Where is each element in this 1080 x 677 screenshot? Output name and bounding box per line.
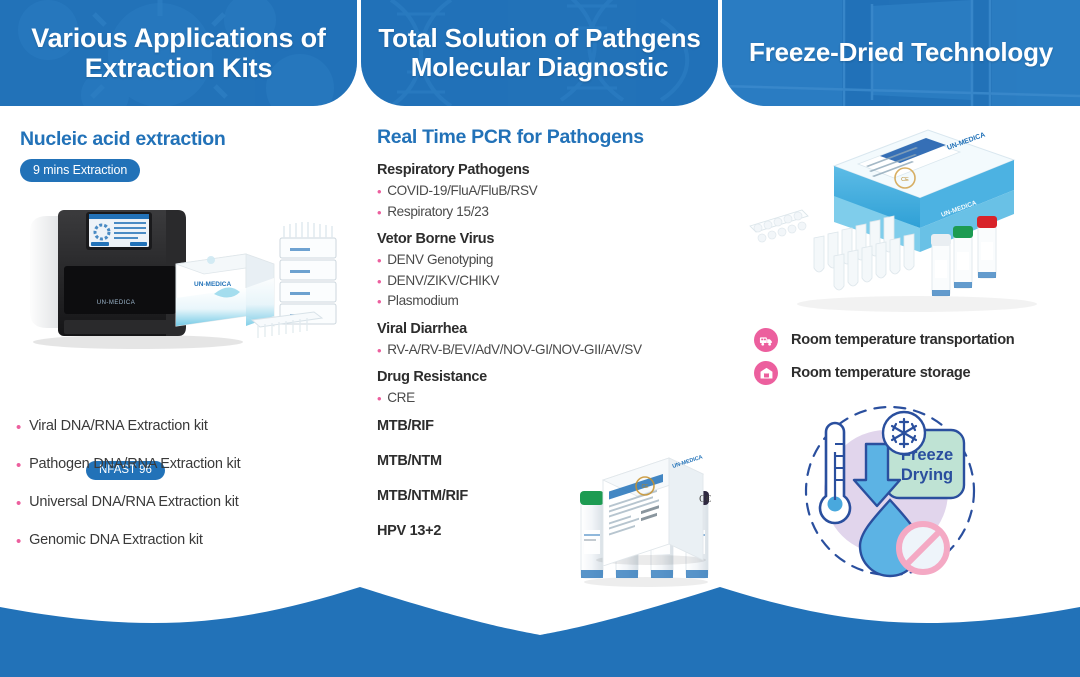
- bottom-wave-decoration: [0, 587, 1080, 677]
- kit-label: Universal DNA/RNA Extraction kit: [29, 494, 239, 510]
- bullet-icon: •: [16, 458, 21, 473]
- column-pcr: Real Time PCR for Pathogens Respiratory …: [361, 106, 722, 606]
- list-item: • Genomic DNA Extraction kit: [16, 532, 356, 549]
- column-extraction: Nucleic acid extraction 9 mins Extractio…: [0, 106, 361, 606]
- feature-label: Room temperature transportation: [791, 332, 1014, 348]
- bullet-icon: •: [377, 342, 381, 360]
- list-item: • Plasmodium: [377, 293, 722, 311]
- bullet-icon: •: [377, 183, 381, 201]
- group-heading: Viral Diarrhea: [377, 321, 722, 337]
- pathogen-group: Drug Resistance • CRE: [377, 369, 722, 408]
- feature-transportation: Room temperature transportation: [754, 328, 1074, 352]
- header-band-row: Various Applications of Extraction Kits: [0, 0, 1080, 106]
- list-item: • Pathogen DNA/RNA Extraction kit: [16, 456, 356, 473]
- header-total-solution: Total Solution of Pathgens Molecular Dia…: [361, 0, 718, 106]
- kit-label: Genomic DNA Extraction kit: [29, 532, 203, 548]
- nfast-instrument-photo: UN-MEDICA UN-MEDICA: [18, 202, 348, 350]
- freeze-drying-graphic: Freeze Drying: [790, 396, 990, 586]
- feature-storage: Room temperature storage: [754, 361, 1074, 385]
- bullet-icon: •: [377, 273, 381, 291]
- pathogen-group: Respiratory Pathogens • COVID-19/FluA/Fl…: [377, 162, 722, 221]
- freeze-label-line2: Drying: [901, 466, 953, 484]
- extraction-time-badge-wrap: 9 mins Extraction: [20, 159, 140, 182]
- pathogen-group: Vetor Borne Virus • DENV Genotyping • DE…: [377, 231, 722, 311]
- group-heading: Drug Resistance: [377, 369, 722, 385]
- assay-label: CRE: [387, 390, 415, 405]
- list-item: • CRE: [377, 390, 722, 408]
- group-heading: Respiratory Pathogens: [377, 162, 722, 178]
- truck-glyph: [759, 333, 774, 348]
- header-total-solution-text: Total Solution of Pathgens Molecular Dia…: [368, 24, 710, 82]
- pcr-kit-box-photo: UN-MEDICA CE C€: [589, 446, 719, 566]
- header-freeze-dried-text: Freeze-Dried Technology: [739, 38, 1063, 67]
- assay-label: DENV Genotyping: [387, 252, 493, 267]
- list-item: • Universal DNA/RNA Extraction kit: [16, 494, 356, 511]
- header-applications: Various Applications of Extraction Kits: [0, 0, 357, 106]
- pathogen-group: Viral Diarrhea • RV-A/RV-B/EV/AdV/NOV-GI…: [377, 321, 722, 360]
- svg-text:CE: CE: [901, 177, 909, 183]
- assay-label: RV-A/RV-B/EV/AdV/NOV-GI/NOV-GII/AV/SV: [387, 342, 641, 357]
- assay-label: DENV/ZIKV/CHIKV: [387, 273, 499, 288]
- list-item: • DENV/ZIKV/CHIKV: [377, 273, 722, 291]
- left-section-title: Nucleic acid extraction: [20, 128, 226, 151]
- header-line1: Freeze-Dried Technology: [749, 37, 1053, 67]
- freeze-dried-kit-photo: CE UN-MEDICA UN-MEDICA: [742, 114, 1062, 319]
- assay-standalone: MTB/RIF: [377, 418, 722, 434]
- assay-label: COVID-19/FluA/FluB/RSV: [387, 183, 537, 198]
- list-item: • DENV Genotyping: [377, 252, 722, 270]
- bullet-icon: •: [377, 204, 381, 222]
- feature-label: Room temperature storage: [791, 365, 970, 381]
- svg-text:CE: CE: [642, 484, 650, 490]
- assay-label: Plasmodium: [387, 293, 458, 308]
- column-freeze-dried: CE UN-MEDICA UN-MEDICA: [722, 106, 1080, 606]
- extraction-kit-list: • Viral DNA/RNA Extraction kit • Pathoge…: [16, 418, 356, 570]
- list-item: • COVID-19/FluA/FluB/RSV: [377, 183, 722, 201]
- bullet-icon: •: [16, 534, 21, 549]
- list-item: • Viral DNA/RNA Extraction kit: [16, 418, 356, 435]
- svg-text:C€: C€: [699, 494, 711, 505]
- header-freeze-dried: Freeze-Dried Technology: [722, 0, 1080, 106]
- bullet-icon: •: [377, 293, 381, 311]
- middle-section-title: Real Time PCR for Pathogens: [377, 126, 644, 149]
- truck-icon: [754, 328, 778, 352]
- bullet-icon: •: [16, 496, 21, 511]
- extraction-time-badge: 9 mins Extraction: [20, 159, 140, 182]
- svg-text:UN-MEDICA: UN-MEDICA: [97, 300, 136, 306]
- snowflake-icon: [883, 412, 925, 454]
- header-line2: Molecular Diagnostic: [411, 52, 669, 82]
- header-applications-text: Various Applications of Extraction Kits: [17, 23, 339, 83]
- bullet-icon: •: [377, 252, 381, 270]
- kit-label: Pathogen DNA/RNA Extraction kit: [29, 456, 240, 472]
- header-line1: Various Applications of: [31, 23, 325, 53]
- list-item: • RV-A/RV-B/EV/AdV/NOV-GI/NOV-GII/AV/SV: [377, 342, 722, 360]
- infographic-page: Various Applications of Extraction Kits: [0, 0, 1080, 677]
- storage-box-icon: [754, 361, 778, 385]
- kit-label: Viral DNA/RNA Extraction kit: [29, 418, 208, 434]
- header-line1: Total Solution of Pathgens: [378, 23, 700, 53]
- assay-label: Respiratory 15/23: [387, 204, 488, 219]
- bullet-icon: •: [16, 420, 21, 435]
- svg-text:UN-MEDICA: UN-MEDICA: [194, 281, 231, 288]
- list-item: • Respiratory 15/23: [377, 204, 722, 222]
- group-heading: Vetor Borne Virus: [377, 231, 722, 247]
- no-water-icon: [899, 524, 947, 572]
- storage-box-glyph: [759, 366, 774, 381]
- bullet-icon: •: [377, 390, 381, 408]
- header-line2: Extraction Kits: [85, 53, 273, 83]
